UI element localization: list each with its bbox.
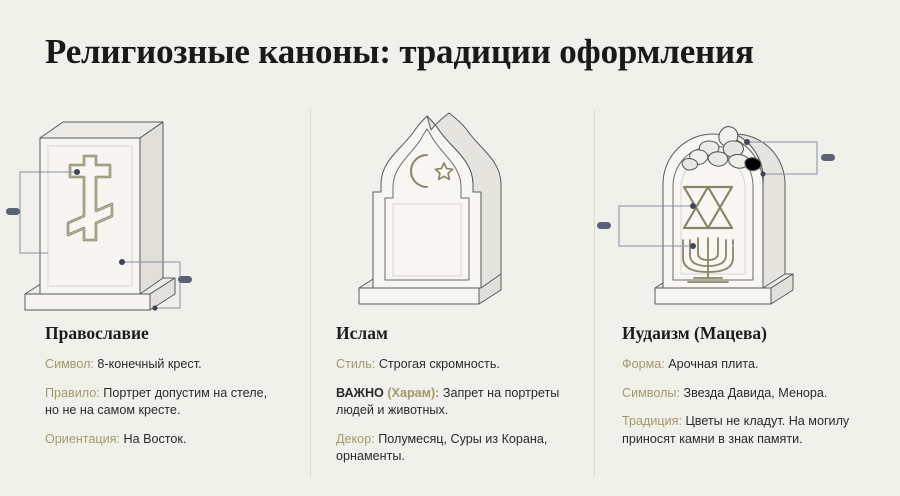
fact-label: Декор:: [336, 432, 375, 446]
fact-symbol: Символ: 8-конечный крест.: [45, 356, 284, 374]
fact-text: На Восток.: [124, 432, 187, 446]
fact-rule: Правило: Портрет допустим на стеле, но н…: [45, 385, 284, 420]
fact-text: 8-конечный крест.: [97, 357, 201, 371]
fact-label: Форма:: [622, 357, 665, 371]
illustration-orthodox-monument: [0, 108, 310, 320]
column-judaism: Иудаизм (Мацева) Форма: Арочная плита. С…: [595, 108, 900, 496]
column-heading-orthodoxy: Православие: [45, 322, 284, 344]
fact-label: Правило:: [45, 386, 100, 400]
illustration-matzeva-monument: [595, 108, 900, 320]
infographic-page: Религиозные каноны: традиции оформления: [0, 0, 900, 496]
fact-label: Стиль:: [336, 357, 375, 371]
fact-label: Ориентация:: [45, 432, 120, 446]
fact-text: Звезда Давида, Менора.: [683, 386, 827, 400]
fact-label: Символы:: [622, 386, 680, 400]
fact-label: ВАЖНО (Харам):: [336, 386, 439, 400]
islamic-stele-group: [359, 113, 501, 304]
header: Религиозные каноны: традиции оформления: [0, 0, 900, 108]
column-orthodoxy: Православие Символ: 8-конечный крест. Пр…: [0, 108, 310, 496]
fact-label-main: ВАЖНО: [336, 386, 384, 400]
fact-haram-warning: ВАЖНО (Харам): Запрет на портреты людей …: [336, 385, 576, 420]
column-islam: Ислам Стиль: Строгая скромность. ВАЖНО (…: [311, 108, 594, 496]
fact-label-paren: (Харам):: [387, 386, 439, 400]
fact-text: Арочная плита.: [668, 357, 758, 371]
text-block-orthodoxy: Православие Символ: 8-конечный крест. Пр…: [0, 322, 310, 448]
fact-label: Символ:: [45, 357, 94, 371]
fact-label: Традиция:: [622, 414, 682, 428]
fact-orientation: Ориентация: На Восток.: [45, 431, 284, 449]
fact-decor: Декор: Полумесяц, Суры из Корана, орнаме…: [336, 431, 576, 466]
fact-tradition: Традиция: Цветы не кладут. На могилу при…: [622, 413, 888, 448]
fact-text: Строгая скромность.: [379, 357, 500, 371]
text-block-islam: Ислам Стиль: Строгая скромность. ВАЖНО (…: [311, 322, 594, 466]
fact-style: Стиль: Строгая скромность.: [336, 356, 576, 374]
illustration-islamic-monument: [311, 108, 594, 320]
column-heading-judaism: Иудаизм (Мацева): [622, 322, 888, 344]
column-heading-islam: Ислам: [336, 322, 576, 344]
page-title: Религиозные каноны: традиции оформления: [45, 31, 754, 73]
fact-form: Форма: Арочная плита.: [622, 356, 888, 374]
fact-symbols: Символы: Звезда Давида, Менора.: [622, 385, 888, 403]
text-block-judaism: Иудаизм (Мацева) Форма: Арочная плита. С…: [595, 322, 900, 448]
